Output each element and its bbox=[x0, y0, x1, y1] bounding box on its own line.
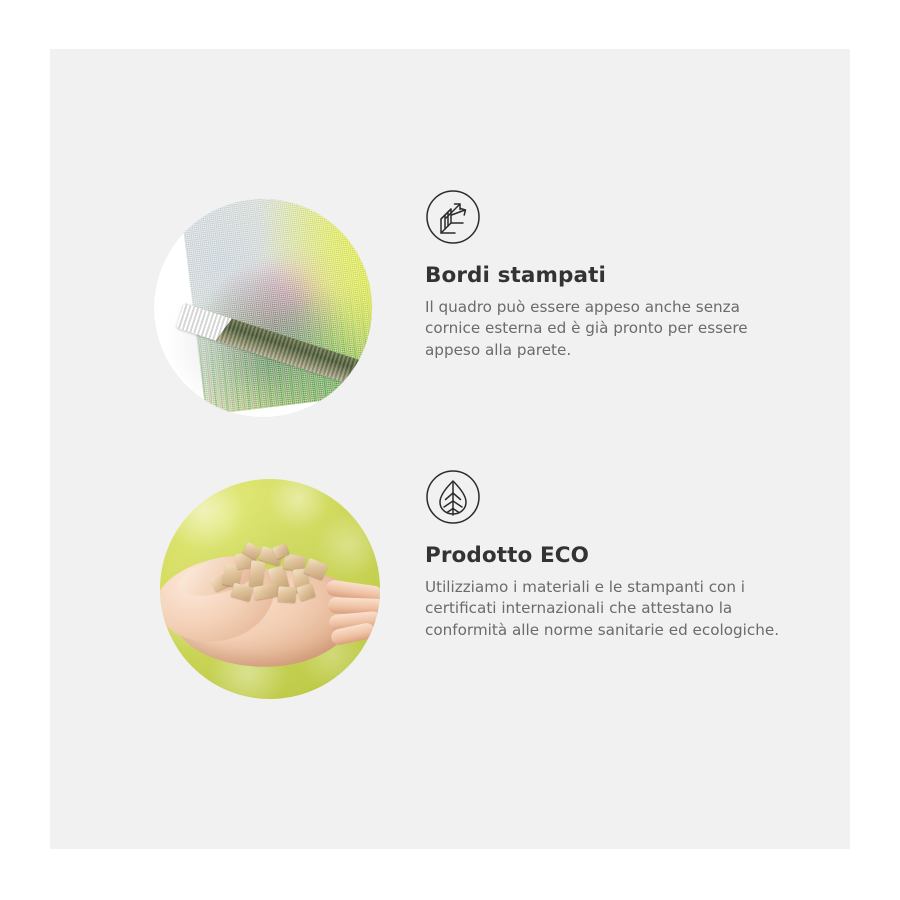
wood-chip bbox=[277, 586, 296, 602]
wood-chip bbox=[253, 583, 279, 600]
canvas-print-corner-photo bbox=[150, 189, 380, 419]
feature-description: Utilizziamo i materiali e le stampanti c… bbox=[425, 577, 793, 642]
leaf-icon bbox=[425, 469, 481, 525]
feature-text-bordi-stampati: Bordi stampati Il quadro può essere appe… bbox=[425, 189, 825, 362]
feature-description: Il quadro può essere appeso anche senza … bbox=[425, 297, 793, 362]
content-panel: Bordi stampati Il quadro può essere appe… bbox=[50, 49, 850, 849]
wood-chips-pile bbox=[208, 545, 332, 617]
canvas-artwork-face bbox=[180, 199, 372, 415]
feature-text-prodotto-eco: Prodotto ECO Utilizziamo i materiali e l… bbox=[425, 469, 825, 642]
product-features-panel: Bordi stampati Il quadro può essere appe… bbox=[0, 0, 900, 900]
eco-wood-chips-hands-photo bbox=[150, 469, 380, 699]
wood-chip bbox=[249, 560, 266, 587]
wood-chip bbox=[296, 583, 316, 601]
hands-holding-chips bbox=[160, 557, 380, 677]
feature-bordi-stampati: Bordi stampati Il quadro può essere appe… bbox=[50, 189, 850, 439]
eco-photo-circle bbox=[160, 479, 380, 699]
feature-prodotto-eco: Prodotto ECO Utilizziamo i materiali e l… bbox=[50, 469, 850, 729]
feature-title: Prodotto ECO bbox=[425, 543, 825, 569]
printed-edges-icon bbox=[425, 189, 481, 245]
canvas-photo-circle bbox=[154, 199, 372, 417]
feature-title: Bordi stampati bbox=[425, 263, 825, 289]
